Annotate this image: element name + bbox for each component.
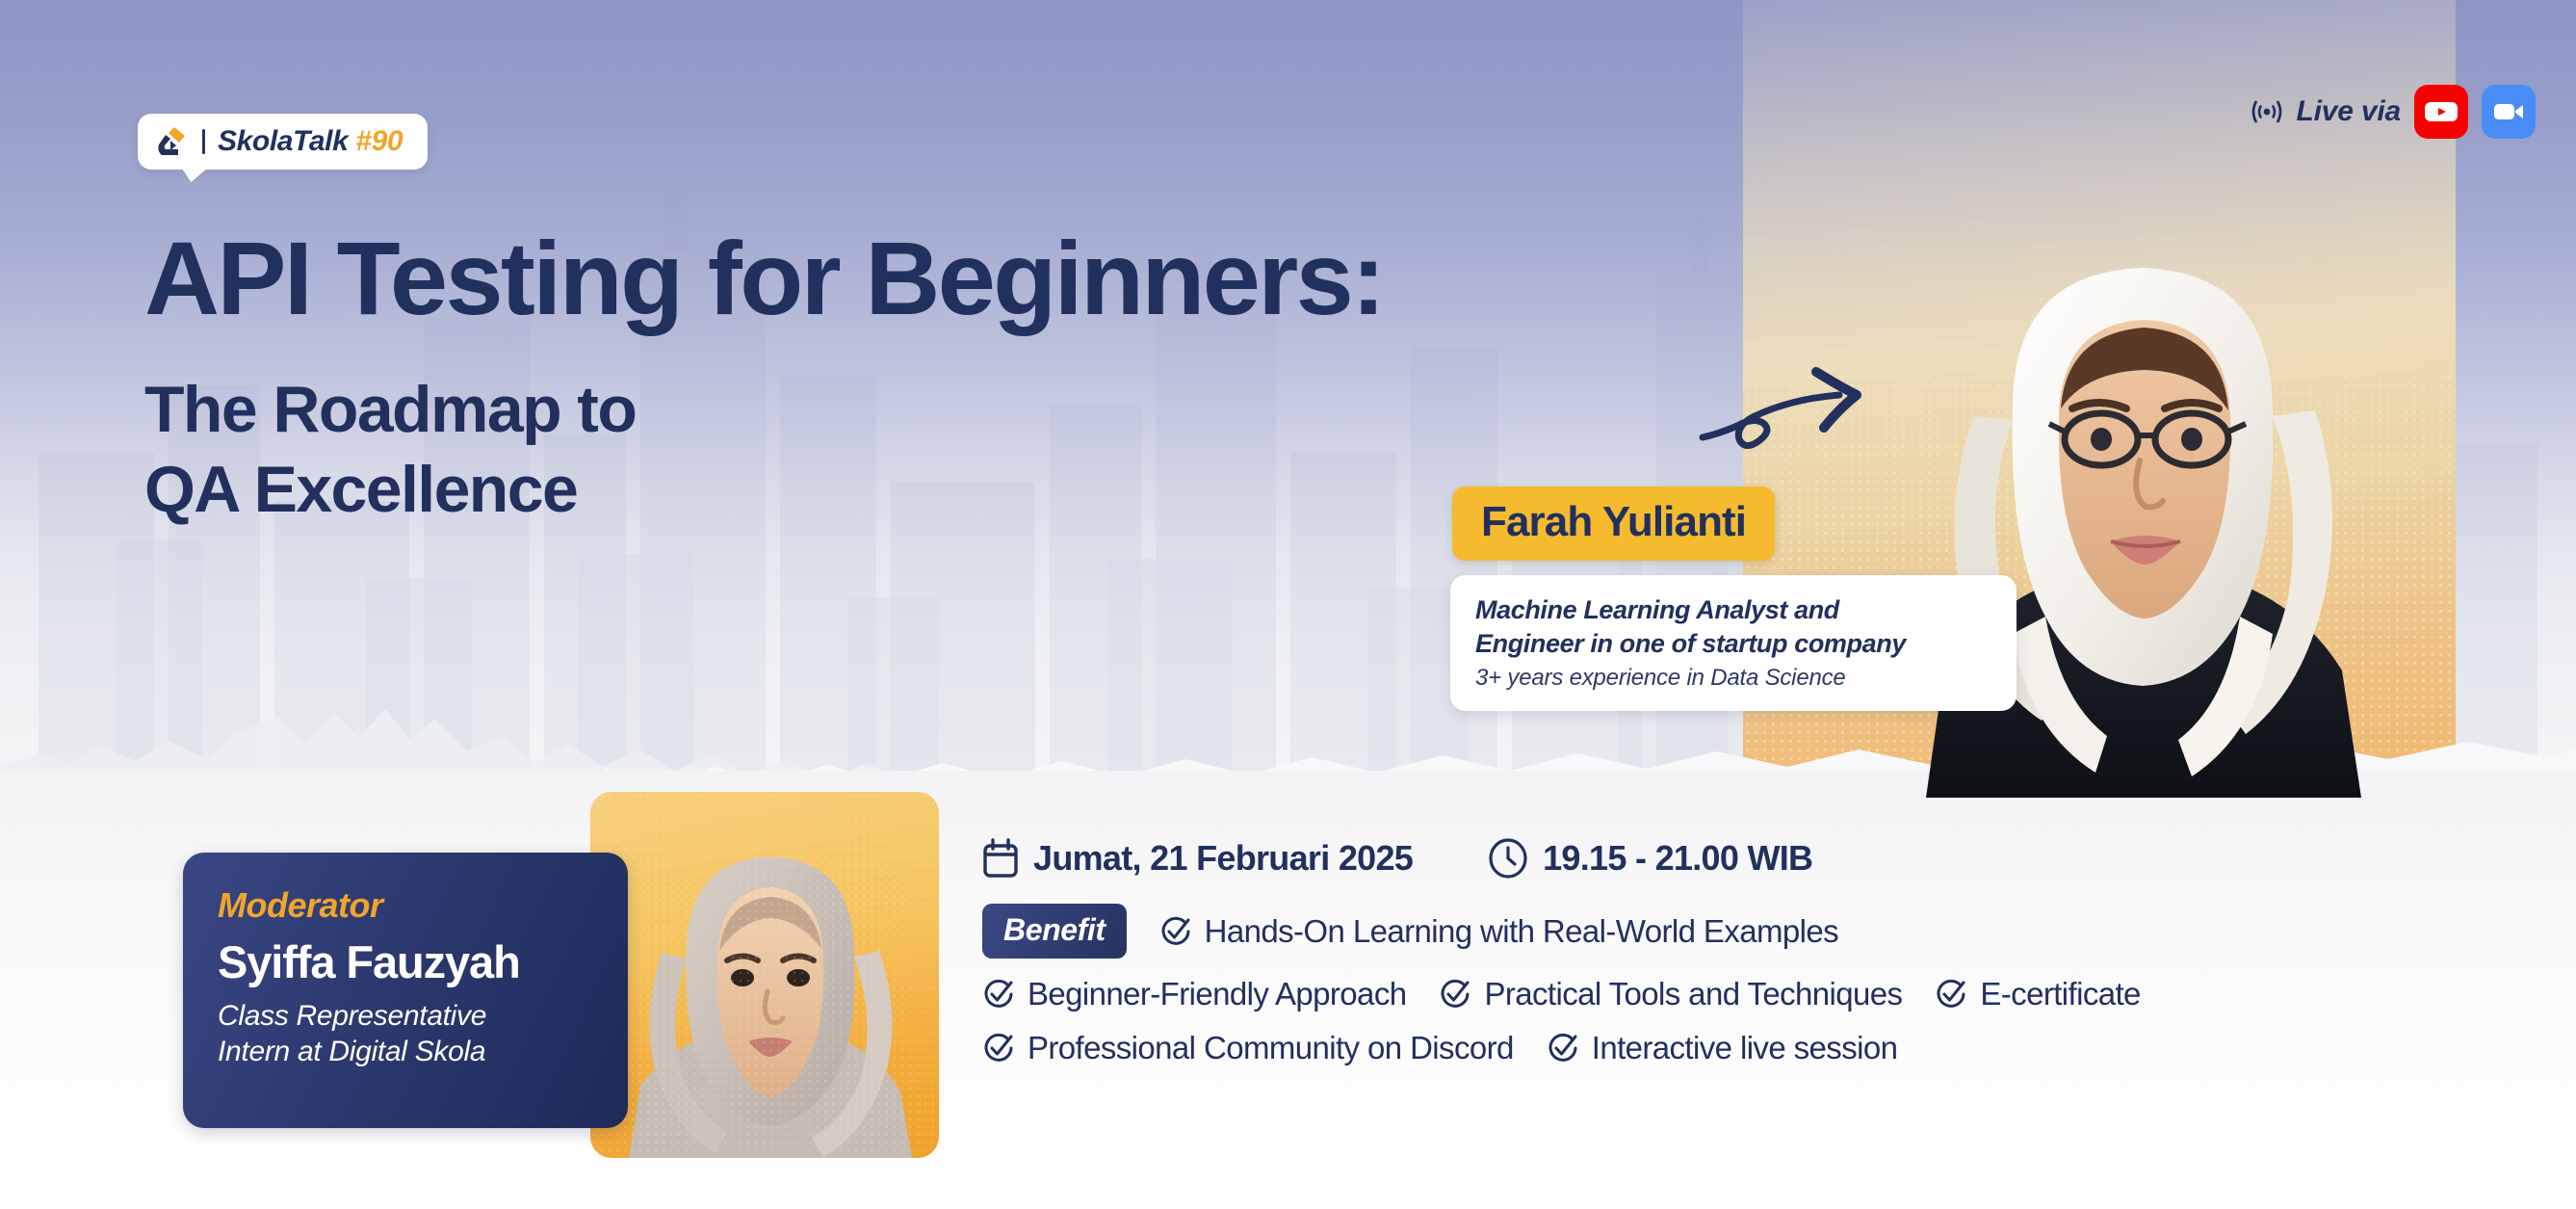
date-chip: Jumat, 21 Februari 2025 [982,838,1413,879]
speaker-title-line1: Machine Learning Analyst and [1475,593,1991,627]
event-info-group: Jumat, 21 Februari 2025 19.15 - 21.00 WI… [982,838,2141,1084]
moderator-label: Moderator [218,885,593,926]
benefit-item: Practical Tools and Techniques [1439,976,1902,1012]
circle-check-icon [982,1032,1015,1064]
benefit-row-3: Professional Community on Discord Intera… [982,1030,2141,1066]
curly-arrow-icon [1695,366,1897,482]
benefit-label: Practical Tools and Techniques [1484,976,1902,1012]
moderator-name: Syiffa Fauzyah [218,935,593,988]
skolatalk-label: SkolaTalk #90 [218,125,403,158]
calendar-icon [982,838,1019,879]
moderator-card: Moderator Syiffa Fauzyah Class Represent… [183,853,628,1128]
youtube-icon[interactable] [2414,85,2468,139]
benefit-label: Interactive live session [1592,1030,1898,1066]
skolatalk-badge[interactable]: SkolaTalk #90 [138,114,428,170]
speaker-name-badge: Farah Yulianti [1452,486,1775,561]
broadcast-wave-icon [2251,97,2283,126]
benefit-pill: Benefit [982,904,1127,959]
headline-subtitle-line2: QA Excellence [144,450,1384,530]
speaker-title: Machine Learning Analyst and Engineer in… [1475,593,1991,660]
benefit-row-1: Benefit Hands-On Learning with Real-Worl… [982,904,2141,959]
clock-icon [1488,838,1528,879]
circle-check-icon [982,978,1015,1011]
speaker-title-line2: Engineer in one of startup company [1475,627,1991,661]
circle-check-icon [1439,978,1471,1011]
page-title: API Testing for Beginners: [144,223,1384,333]
benefit-item: Professional Community on Discord [982,1030,1514,1066]
moderator-role: Class Representative Intern at Digital S… [218,999,593,1069]
circle-check-icon [1547,1032,1579,1064]
benefit-label: Professional Community on Discord [1028,1030,1514,1066]
benefit-item: Interactive live session [1547,1030,1898,1066]
badge-divider [202,129,205,154]
event-date: Jumat, 21 Februari 2025 [1033,838,1413,879]
benefit-label: Beginner-Friendly Approach [1028,976,1406,1012]
benefit-item: Hands-On Learning with Real-World Exampl… [1159,913,1838,950]
circle-check-icon [1935,978,1967,1011]
moderator-role-line2: Intern at Digital Skola [218,1035,593,1070]
circle-check-icon [1159,915,1192,948]
headline-subtitle: The Roadmap to QA Excellence [144,370,1384,530]
headline-group: API Testing for Beginners: The Roadmap t… [144,223,1384,530]
benefit-label: E-certificate [1980,976,2140,1012]
live-via-group: Live via [2251,85,2536,139]
benefit-row-2: Beginner-Friendly Approach Practical Too… [982,976,2141,1012]
digital-skola-logo [155,125,190,158]
benefit-item: E-certificate [1935,976,2140,1012]
event-time: 19.15 - 21.00 WIB [1543,838,1812,879]
benefits-group: Benefit Hands-On Learning with Real-Worl… [982,904,2141,1066]
skolatalk-title: SkolaTalk [218,125,348,157]
event-banner: SkolaTalk #90 Live via API Testi [0,0,2576,1209]
moderator-role-line1: Class Representative [218,999,593,1035]
live-via-label: Live via [2297,95,2401,128]
speaker-experience: 3+ years experience in Data Science [1475,665,1991,692]
headline-subtitle-line1: The Roadmap to [144,370,1384,450]
zoom-icon[interactable] [2482,85,2536,139]
schedule-row: Jumat, 21 Februari 2025 19.15 - 21.00 WI… [982,838,2141,879]
benefit-item: Beginner-Friendly Approach [982,976,1406,1012]
moderator-portrait [611,826,929,1158]
benefit-label: Hands-On Learning with Real-World Exampl… [1205,913,1838,950]
speaker-credential-card: Machine Learning Analyst and Engineer in… [1450,575,2017,711]
moderator-photo-panel [590,792,939,1158]
time-chip: 19.15 - 21.00 WIB [1488,838,1812,879]
skolatalk-number: #90 [355,125,403,157]
